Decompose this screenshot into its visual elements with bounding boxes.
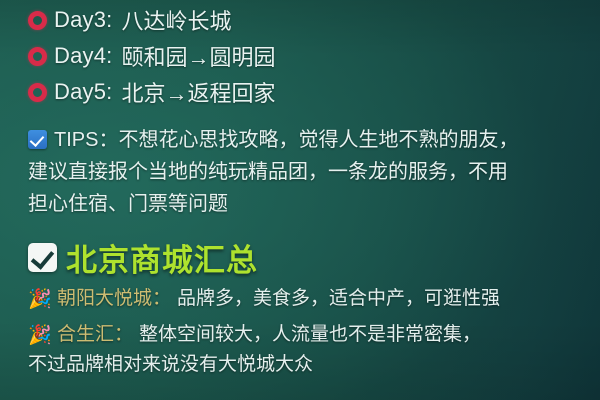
list-item: Day4: 颐和园→圆明园 xyxy=(28,38,584,74)
mall-description: 品牌多，美食多，适合中产，可逛性强 xyxy=(177,284,500,314)
day-text: 八达岭长城 xyxy=(121,4,231,36)
tips-block: TIPS： 不想花心思找攻略，觉得人生地不熟的朋友， 建议直接报个当地的纯玩精品… xyxy=(28,124,584,220)
list-item: 🎉 合生汇： 整体空间较大，人流量也不是非常密集， 不过品牌相对来说没有大悦城大… xyxy=(28,320,584,380)
list-item: 🎉 朝阳大悦城： 品牌多，美食多，适合中产，可逛性强 xyxy=(28,284,584,314)
tips-text-line: 不想花心思找攻略，觉得人生地不熟的朋友， xyxy=(118,124,518,156)
tips-text-line: 担心住宿、门票等问题 xyxy=(28,188,584,220)
poster-canvas: Day3: 八达岭长城 Day4: 颐和园→圆明园 Day5: 北京→返程回家 … xyxy=(0,0,600,400)
day-label: Day5: xyxy=(54,79,112,105)
white-check-icon xyxy=(28,243,57,272)
mall-first-line: 🎉 合生汇： 整体空间较大，人流量也不是非常密集， xyxy=(28,320,584,350)
red-ring-icon xyxy=(28,47,47,66)
mall-name: 朝阳大悦城： xyxy=(57,284,171,314)
party-popper-icon: 🎉 xyxy=(28,287,52,311)
mall-first-line: 🎉 朝阳大悦城： 品牌多，美食多，适合中产，可逛性强 xyxy=(28,284,584,314)
mall-description: 整体空间较大，人流量也不是非常密集， xyxy=(139,320,481,350)
party-popper-icon: 🎉 xyxy=(28,323,52,347)
list-item: Day5: 北京→返程回家 xyxy=(28,74,584,110)
tips-label: TIPS： xyxy=(54,124,118,156)
tips-first-line: TIPS： 不想花心思找攻略，觉得人生地不熟的朋友， xyxy=(28,124,584,156)
day-text: 颐和园→圆明园 xyxy=(121,40,275,72)
section-heading: 北京商城汇总 xyxy=(28,236,584,278)
list-item: Day3: 八达岭长城 xyxy=(28,2,584,38)
tips-text-line: 建议直接报个当地的纯玩精品团，一条龙的服务，不用 xyxy=(28,156,584,188)
poster-content: Day3: 八达岭长城 Day4: 颐和园→圆明园 Day5: 北京→返程回家 … xyxy=(0,0,600,380)
mall-name: 合生汇： xyxy=(57,320,133,350)
mall-description: 不过品牌相对来说没有大悦城大众 xyxy=(28,350,584,380)
red-ring-icon xyxy=(28,83,47,102)
day-label: Day3: xyxy=(54,7,112,33)
day-text: 北京→返程回家 xyxy=(121,76,275,108)
page-title: 北京商城汇总 xyxy=(66,235,258,280)
itinerary-list: Day3: 八达岭长城 Day4: 颐和园→圆明园 Day5: 北京→返程回家 xyxy=(28,2,584,110)
blue-check-icon xyxy=(28,130,47,149)
day-label: Day4: xyxy=(54,43,112,69)
red-ring-icon xyxy=(28,11,47,30)
